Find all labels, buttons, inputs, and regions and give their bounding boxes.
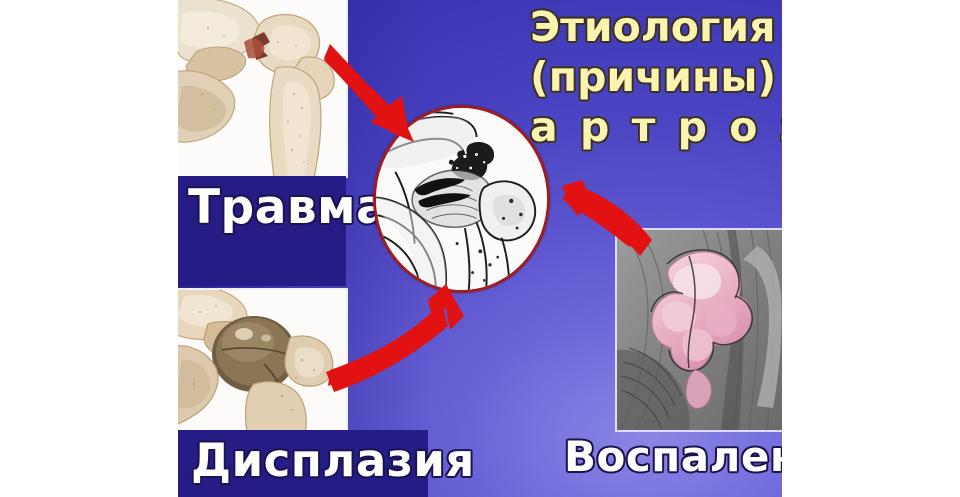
poster-title: Этиология (причины) а р т р о з а xyxy=(530,2,780,152)
inflammation-photo xyxy=(615,228,782,432)
arrow-from-dysplasia-icon xyxy=(328,284,464,386)
arrow-from-inflammation-head xyxy=(562,180,592,216)
title-line-1: Этиология xyxy=(530,2,780,52)
inflamed-hip-joint-illustration xyxy=(617,230,782,430)
dysplastic-hip-joint-photo xyxy=(178,290,346,434)
dysplasia-label: Дисплазия xyxy=(191,438,475,483)
fractured-hip-bone-photo xyxy=(178,0,346,176)
inflammation-label: Воспаление xyxy=(564,436,782,478)
etiology-poster: Травма xyxy=(178,0,782,497)
title-line-2: (причины) xyxy=(530,52,780,102)
center-diagram-wrapper xyxy=(373,105,550,293)
title-line-3: а р т р о з а xyxy=(530,102,780,152)
trauma-photo xyxy=(178,0,348,178)
arthrosis-hip-joint-diagram xyxy=(376,108,547,290)
poster-canvas: Травма xyxy=(0,0,960,497)
trauma-label: Травма xyxy=(188,184,388,231)
dysplasia-photo xyxy=(178,288,348,436)
center-circle xyxy=(373,105,550,293)
